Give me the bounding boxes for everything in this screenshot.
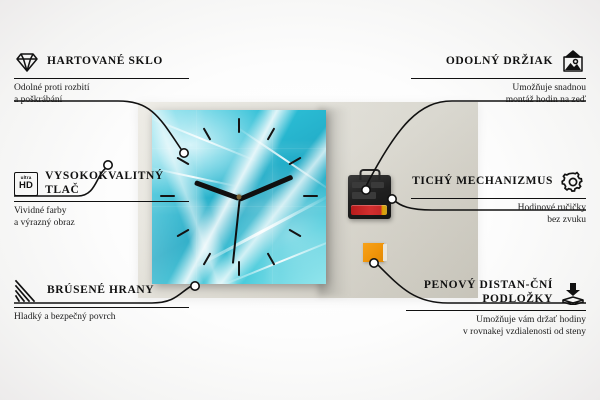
feature-desc: Umožňuje snadnou montáž hodin na zeď bbox=[411, 83, 586, 106]
feature-header: HARTOVANÉ SKLO bbox=[14, 50, 189, 74]
clock-movement-mechanism bbox=[348, 175, 391, 219]
feature-high-quality-print: ultra HD VYSOKOKVALITNÝ TLAČ Vividné far… bbox=[14, 170, 189, 229]
feature-divider bbox=[14, 307, 189, 308]
hour-marker-12 bbox=[238, 118, 240, 133]
glass-pane-line bbox=[152, 148, 326, 149]
ground-edges-icon bbox=[14, 279, 40, 303]
feature-desc: Odolné proti rozbití a poškrábání bbox=[14, 83, 189, 106]
infographic-canvas: HARTOVANÉ SKLO Odolné proti rozbití a po… bbox=[0, 0, 600, 400]
feature-silent-mechanism: TICHÝ MECHANIZMUS Hodinové ručičky bez z… bbox=[411, 170, 586, 226]
glass-pane-line bbox=[272, 110, 273, 284]
hour-marker-6 bbox=[238, 261, 240, 276]
feature-header: ODOLNÝ DRŽIAK bbox=[411, 50, 586, 74]
feature-divider bbox=[406, 310, 586, 311]
foam-spacer-icon bbox=[560, 281, 586, 305]
feature-title: BRÚSENÉ HRANY bbox=[47, 284, 154, 298]
feature-title: VYSOKOKVALITNÝ TLAČ bbox=[45, 170, 189, 197]
feature-ground-edges: BRÚSENÉ HRANY Hladký a bezpečný povrch bbox=[14, 279, 189, 324]
feature-header: BRÚSENÉ HRANY bbox=[14, 279, 189, 303]
feature-divider bbox=[411, 78, 586, 79]
feature-divider bbox=[14, 78, 189, 79]
hour-marker-3 bbox=[303, 195, 318, 197]
movement-detail bbox=[352, 182, 368, 188]
movement-hanger bbox=[359, 169, 380, 180]
feature-divider bbox=[411, 198, 586, 199]
feature-desc: Umožňuje vám držať hodiny v rovnakej vzd… bbox=[406, 315, 586, 338]
feature-header: PENOVÝ DISTAN-ČNÍ PODLOŽKY bbox=[406, 279, 586, 306]
feature-desc: Hodinové ručičky bez zvuku bbox=[411, 203, 586, 226]
feature-desc: Vividné farby a výrazný obraz bbox=[14, 206, 189, 229]
movement-detail bbox=[371, 182, 384, 188]
foam-distance-pad bbox=[363, 243, 384, 262]
feature-title: ODOLNÝ DRŽIAK bbox=[411, 55, 553, 69]
clock-center-hub bbox=[237, 195, 242, 200]
feature-foam-spacers: PENOVÝ DISTAN-ČNÍ PODLOŽKY Umožňuje vám … bbox=[406, 279, 586, 338]
feature-title: PENOVÝ DISTAN-ČNÍ PODLOŽKY bbox=[406, 279, 553, 306]
connector-dot-print bbox=[104, 161, 112, 169]
ultra-hd-badge-lower: HD bbox=[19, 181, 33, 191]
feature-durable-holder: ODOLNÝ DRŽIAK Umožňuje snadnou montáž ho… bbox=[411, 50, 586, 106]
feature-header: ultra HD VYSOKOKVALITNÝ TLAČ bbox=[14, 170, 189, 197]
movement-detail bbox=[352, 192, 376, 199]
feature-desc: Hladký a bezpečný povrch bbox=[14, 312, 189, 324]
feature-header: TICHÝ MECHANIZMUS bbox=[411, 170, 586, 194]
gear-icon bbox=[560, 170, 586, 194]
feature-hardened-glass: HARTOVANÉ SKLO Odolné proti rozbití a po… bbox=[14, 50, 189, 106]
feature-divider bbox=[14, 201, 189, 202]
diamond-icon bbox=[14, 50, 40, 74]
feature-title: HARTOVANÉ SKLO bbox=[47, 55, 163, 69]
feature-title: TICHÝ MECHANIZMUS bbox=[411, 175, 553, 189]
ultra-hd-badge-icon: ultra HD bbox=[14, 172, 38, 196]
wall-hanger-frame-icon bbox=[560, 50, 586, 74]
movement-battery bbox=[351, 205, 387, 215]
